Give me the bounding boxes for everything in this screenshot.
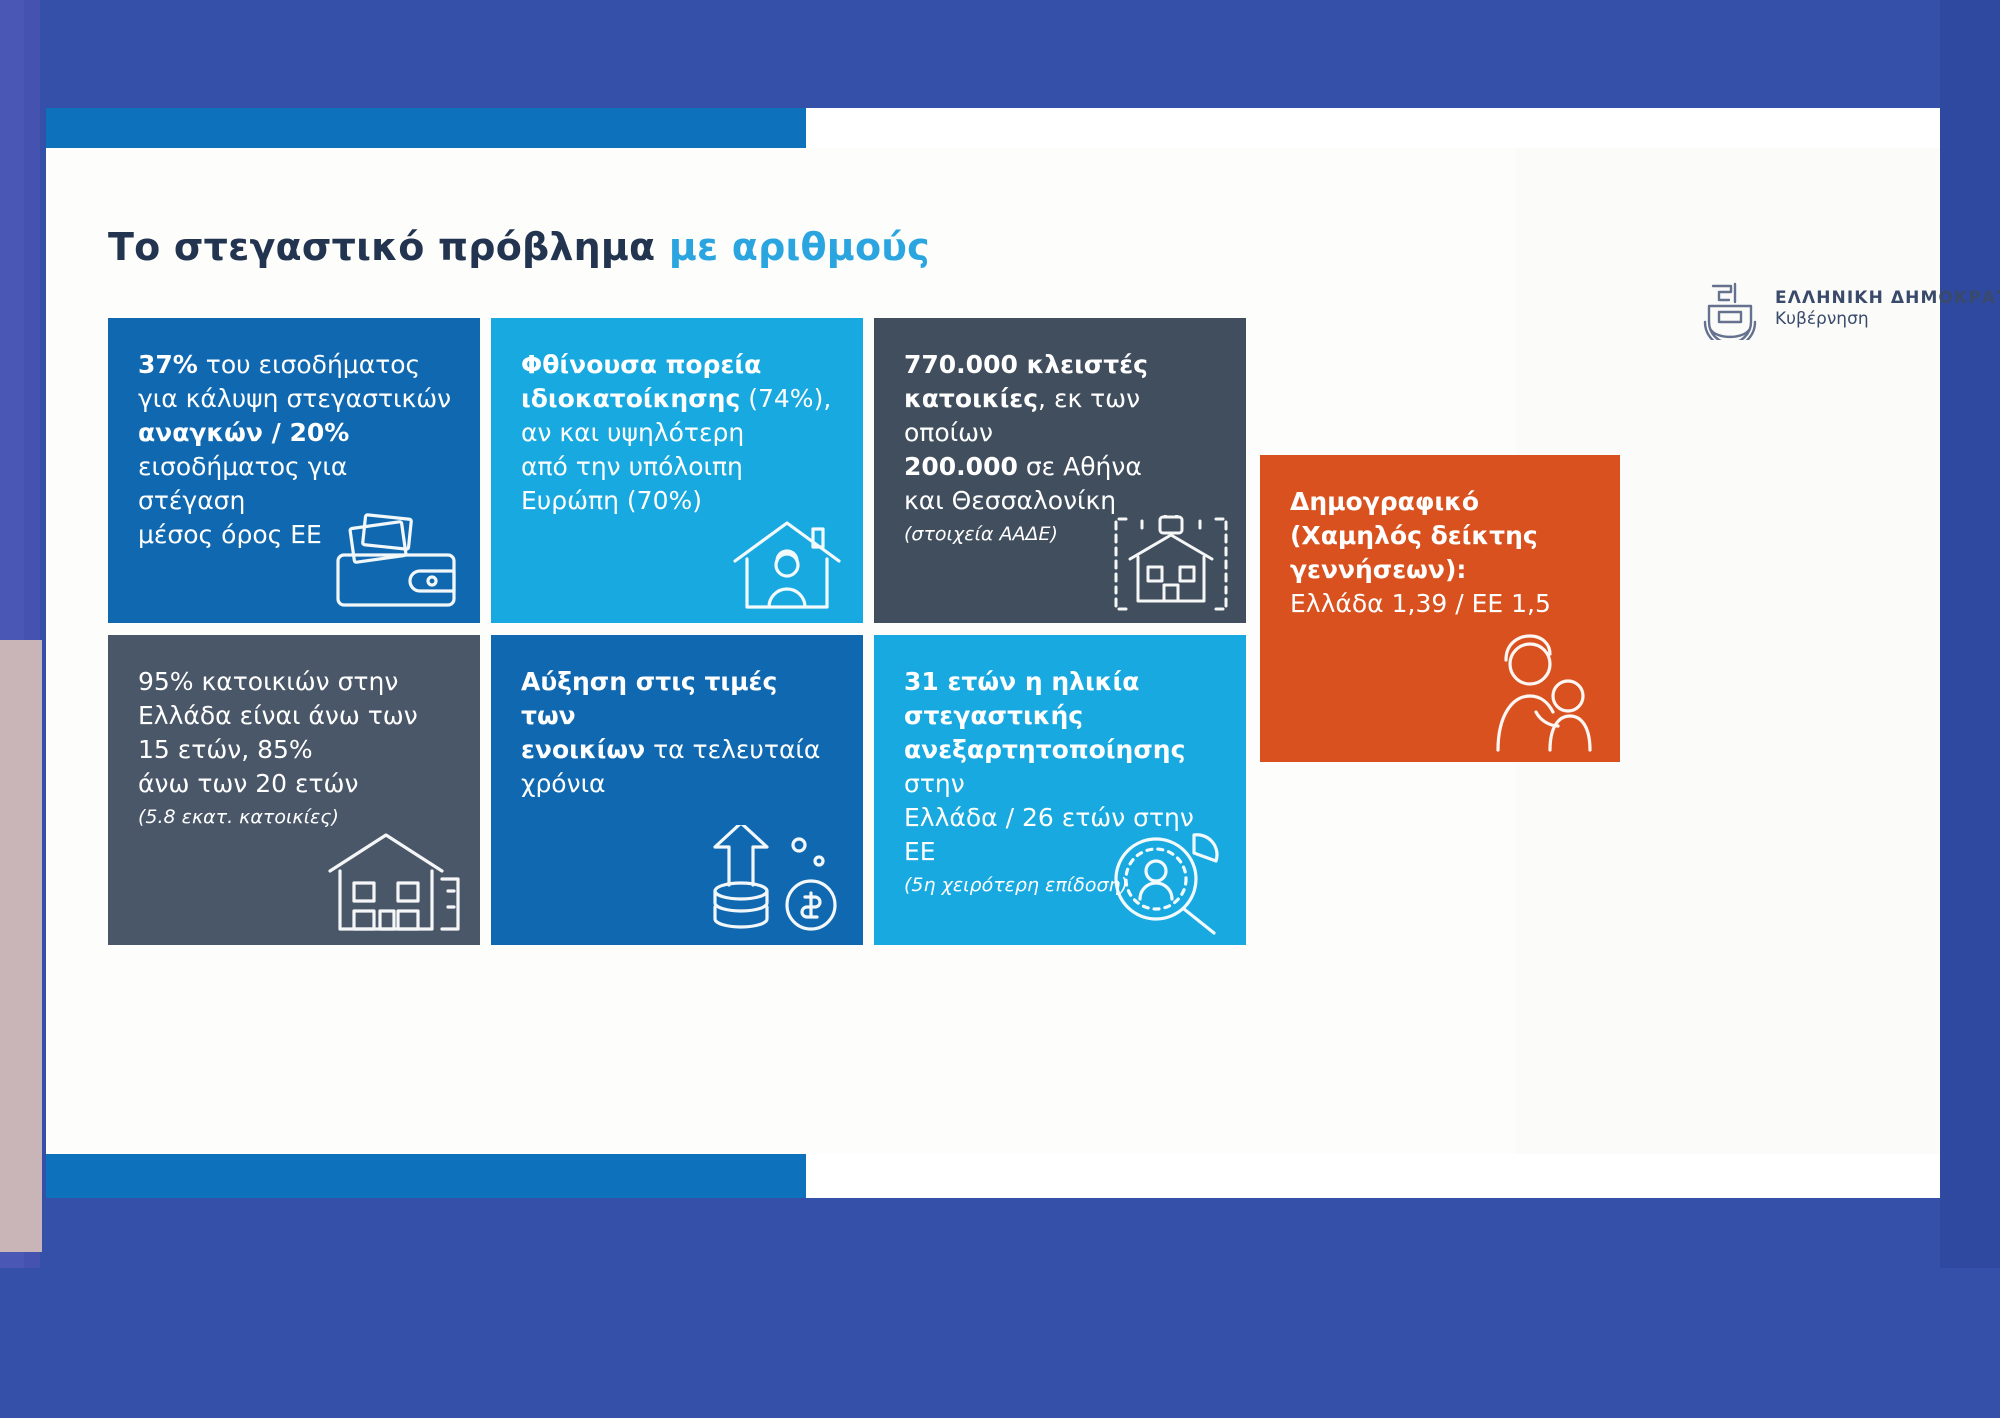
card-housing-age: 95% κατοικιών στην Ελλάδα είναι άνω των …: [108, 635, 480, 945]
card-line: Ελλάδα 1,39 / ΕΕ 1,5: [1290, 587, 1592, 621]
greek-republic-emblem-icon: [1701, 278, 1759, 340]
card-line: ανεξαρτητοποίησης στην: [904, 733, 1218, 801]
card-line: αναγκών / 20%: [138, 416, 452, 450]
card-closed-dwellings: 770.000 κλειστές κατοικίες, εκ των οποίω…: [874, 318, 1246, 623]
wallet-cash-icon: [334, 513, 464, 613]
card-rent-increase: Αύξηση στις τιμές των ενοικίων τα τελευτ…: [491, 635, 863, 945]
card-line: και Θεσσαλονίκη: [904, 484, 1218, 518]
page-title-main: Το στεγαστικό πρόβλημα: [108, 225, 655, 269]
card-line: Ελλάδα είναι άνω των: [138, 699, 452, 733]
government-logo-text: ΕΛΛΗΝΙΚΗ ΔΗΜΟΚΡΑΤΙΑ Κυβέρνηση: [1775, 288, 2000, 331]
card-line: για κάλυψη στεγαστικών: [138, 382, 452, 416]
card-line: Ευρώπη (70%): [521, 484, 835, 518]
card-line: 200.000 σε Αθήνα: [904, 450, 1218, 484]
card-line: 15 ετών, 85%: [138, 733, 452, 767]
house-family-icon: [727, 515, 847, 613]
card-line: άνω των 20 ετών: [138, 767, 452, 801]
person-search-icon: [1098, 827, 1230, 935]
card-line: 770.000 κλειστές: [904, 348, 1218, 382]
card-line: Δημογραφικό: [1290, 485, 1592, 519]
card-line: ενοικίων τα τελευταία: [521, 733, 835, 767]
card-line: (Χαμηλός δείκτης: [1290, 519, 1592, 553]
card-line: γεννήσεων):: [1290, 553, 1592, 587]
card-line: χρόνια: [521, 767, 835, 801]
old-house-icon: [324, 827, 464, 935]
backdrop-pink-panel: [0, 640, 42, 1252]
government-logo: ΕΛΛΗΝΙΚΗ ΔΗΜΟΚΡΑΤΙΑ Κυβέρνηση: [1701, 278, 2000, 340]
card-line: Φθίνουσα πορεία: [521, 348, 835, 382]
card-line: εισοδήματος για στέγαση: [138, 450, 452, 518]
card-independence-age: 31 ετών η ηλικία στεγαστικής ανεξαρτητοπ…: [874, 635, 1246, 945]
card-line: 95% κατοικιών στην: [138, 665, 452, 699]
slide-bottom-accent-bar: [46, 1154, 806, 1198]
page-title-accent: με αριθμούς: [669, 225, 930, 269]
mother-child-icon: [1476, 634, 1604, 752]
page-title: Το στεγαστικό πρόβλημα με αριθμούς: [108, 225, 930, 269]
card-line: ιδιοκατοίκησης (74%),: [521, 382, 835, 416]
card-note: (5.8 εκατ. κατοικίες): [138, 805, 452, 830]
card-line: 37% του εισοδήματος: [138, 348, 452, 382]
card-income-share: 37% του εισοδήματος για κάλυψη στεγαστικ…: [108, 318, 480, 623]
card-line: κατοικίες, εκ των οποίων: [904, 382, 1218, 450]
logo-line-1: ΕΛΛΗΝΙΚΗ ΔΗΜΟΚΡΑΤΙΑ: [1775, 288, 2000, 308]
card-line: αν και υψηλότερη: [521, 416, 835, 450]
locked-building-icon: [1112, 515, 1230, 613]
backdrop-bottom-band: [0, 1268, 2000, 1418]
rising-coins-icon: [707, 825, 847, 935]
card-line: 31 ετών η ηλικία: [904, 665, 1218, 699]
backdrop-right-band: [1940, 0, 2000, 1418]
card-line: στεγαστικής: [904, 699, 1218, 733]
card-demographics: Δημογραφικό (Χαμηλός δείκτης γεννήσεων):…: [1260, 455, 1620, 762]
presentation-slide: Το στεγαστικό πρόβλημα με αριθμούς 37% τ…: [46, 108, 1940, 1198]
card-line: Αύξηση στις τιμές των: [521, 665, 835, 733]
slide-top-accent-bar: [46, 108, 806, 148]
slide-content-area: Το στεγαστικό πρόβλημα με αριθμούς 37% τ…: [46, 148, 1940, 1154]
card-line: από την υπόλοιπη: [521, 450, 835, 484]
logo-line-2: Κυβέρνηση: [1775, 309, 1869, 329]
card-homeownership-decline: Φθίνουσα πορεία ιδιοκατοίκησης (74%), αν…: [491, 318, 863, 623]
